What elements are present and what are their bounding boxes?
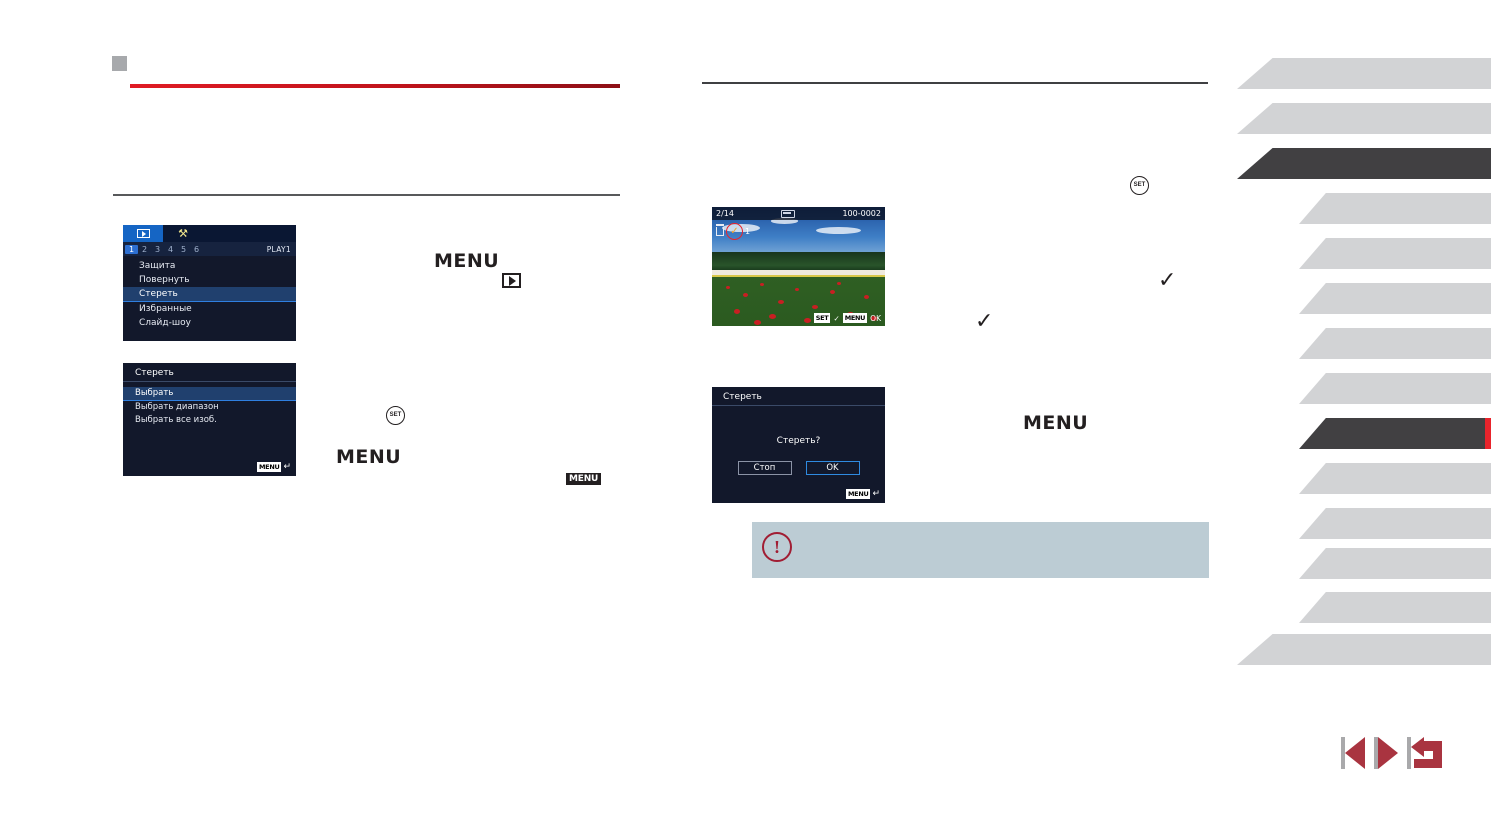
- checkmark-icon: ✓: [1158, 269, 1176, 291]
- menu-tab-row: ⚒: [123, 225, 296, 242]
- next-page-button[interactable]: [1374, 737, 1398, 769]
- submenu-item-select[interactable]: Выбрать: [123, 387, 296, 401]
- page-number-6[interactable]: 6: [190, 245, 203, 254]
- dialog-question: Стереть?: [712, 436, 885, 446]
- photo-counter: 2/14: [716, 209, 734, 218]
- sidebar-tab-13[interactable]: [1299, 592, 1491, 623]
- dialog-ok-button[interactable]: OK: [806, 461, 860, 475]
- section-marker: [112, 56, 127, 71]
- dialog-footer: MENU ↵: [846, 489, 880, 499]
- return-button[interactable]: [1407, 737, 1445, 769]
- sidebar-tab-8[interactable]: [1299, 373, 1491, 404]
- sidebar-tab-10[interactable]: [1299, 463, 1491, 494]
- menu-button-glyph: MENU: [1023, 412, 1088, 434]
- title-rule-red: [130, 84, 620, 88]
- sidebar-tab-14[interactable]: [1237, 634, 1491, 665]
- battery-icon: [781, 210, 795, 218]
- set-button-icon: SET: [386, 406, 405, 425]
- set-badge: SET: [814, 313, 831, 323]
- dialog-button-row: Стоп OK: [712, 461, 885, 475]
- set-icon-text: SET: [1134, 183, 1146, 189]
- menu-badge: MENU: [257, 462, 281, 472]
- camera-screen-photo-review: 2/14 100-0002 ✓ 1 SET ✓ MENU OK: [712, 207, 885, 326]
- page-label: PLAY1: [267, 245, 291, 254]
- menu-badge-glyph: MENU: [566, 473, 601, 485]
- selection-highlight-circle: ✓: [726, 223, 743, 240]
- menu-badge: MENU: [843, 313, 867, 323]
- set-checkmark-icon: ✓: [833, 314, 839, 323]
- divider-left-column: [113, 194, 620, 196]
- sidebar-tab-3[interactable]: [1237, 148, 1491, 179]
- set-icon-text: SET: [390, 413, 402, 419]
- menu-item-slideshow[interactable]: Слайд-шоу: [123, 316, 296, 330]
- playback-icon: [137, 229, 150, 238]
- page-number-5[interactable]: 5: [177, 245, 190, 254]
- camera-screen-confirm-dialog: Стереть Стереть? Стоп OK MENU ↵: [712, 387, 885, 503]
- menu-page-numbers: 1 2 3 4 5 6 PLAY1: [123, 242, 296, 256]
- page-number-3[interactable]: 3: [151, 245, 164, 254]
- dialog-cancel-button[interactable]: Стоп: [738, 461, 792, 475]
- previous-page-button[interactable]: [1341, 737, 1365, 769]
- chevron-right-icon: [1378, 737, 1398, 769]
- return-arrow-icon: ↵: [872, 490, 880, 499]
- menu-item-rotate[interactable]: Повернуть: [123, 273, 296, 287]
- sidebar-tab-4[interactable]: [1299, 193, 1491, 224]
- sidebar-tab-2[interactable]: [1237, 103, 1491, 134]
- page-navigation: [1341, 737, 1445, 769]
- sidebar-tab-7[interactable]: [1299, 328, 1491, 359]
- sidebar-tab-9[interactable]: [1299, 418, 1491, 449]
- menu-item-erase[interactable]: Стереть: [123, 287, 296, 302]
- page-number-4[interactable]: 4: [164, 245, 177, 254]
- wrench-icon: ⚒: [178, 228, 188, 239]
- warning-icon: !: [762, 532, 792, 562]
- submenu-title: Стереть: [123, 363, 296, 382]
- menu-item-list: Защита Повернуть Стереть Избранные Слайд…: [123, 256, 296, 330]
- trash-icon: [716, 227, 724, 236]
- camera-screen-playback-menu: ⚒ 1 2 3 4 5 6 PLAY1 Защита Повернуть Сте…: [123, 225, 296, 341]
- sidebar-tab-5[interactable]: [1299, 238, 1491, 269]
- menu-item-favorites[interactable]: Избранные: [123, 302, 296, 316]
- chapter-tab-sidebar: [1237, 0, 1491, 839]
- sidebar-tab-1[interactable]: [1237, 58, 1491, 89]
- camera-screen-erase-submenu: Стереть Выбрать Выбрать диапазон Выбрать…: [123, 363, 296, 476]
- submenu-item-select-all[interactable]: Выбрать все изоб.: [123, 414, 296, 427]
- tab-setup[interactable]: ⚒: [163, 225, 203, 242]
- playback-icon: [502, 273, 521, 288]
- caution-box: !: [752, 522, 1209, 578]
- active-chapter-indicator: [1485, 418, 1491, 449]
- sidebar-tab-6[interactable]: [1299, 283, 1491, 314]
- menu-ok-label: OK: [870, 314, 881, 323]
- menu-button-glyph: MENU: [434, 250, 499, 272]
- photo-file-number: 100-0002: [842, 209, 881, 218]
- checkmark-icon: ✓: [730, 227, 738, 237]
- submenu-item-select-range[interactable]: Выбрать диапазон: [123, 401, 296, 414]
- tab-playback[interactable]: [123, 225, 163, 242]
- sidebar-tab-11[interactable]: [1299, 508, 1491, 539]
- return-arrow-icon: ↵: [283, 463, 291, 472]
- return-arrow-icon: [1411, 737, 1445, 769]
- submenu-item-list: Выбрать Выбрать диапазон Выбрать все изо…: [123, 382, 296, 427]
- submenu-footer: MENU ↵: [257, 462, 291, 472]
- photo-status-bar: 2/14 100-0002: [712, 207, 885, 220]
- divider-right-column: [702, 82, 1208, 84]
- set-button-icon: SET: [1130, 176, 1149, 195]
- checkmark-icon: ✓: [975, 310, 993, 332]
- menu-badge: MENU: [846, 489, 870, 499]
- sidebar-tab-12[interactable]: [1299, 548, 1491, 579]
- menu-item-protect[interactable]: Защита: [123, 259, 296, 273]
- page-number-2[interactable]: 2: [138, 245, 151, 254]
- menu-button-glyph: MENU: [336, 446, 401, 468]
- chevron-left-icon: [1345, 737, 1365, 769]
- page-number-1[interactable]: 1: [125, 245, 138, 254]
- dialog-title: Стереть: [712, 387, 885, 406]
- photo-erase-mark[interactable]: ✓ 1: [716, 223, 750, 240]
- erase-mark-count: 1: [745, 227, 750, 236]
- photo-action-bar: SET ✓ MENU OK: [814, 313, 881, 323]
